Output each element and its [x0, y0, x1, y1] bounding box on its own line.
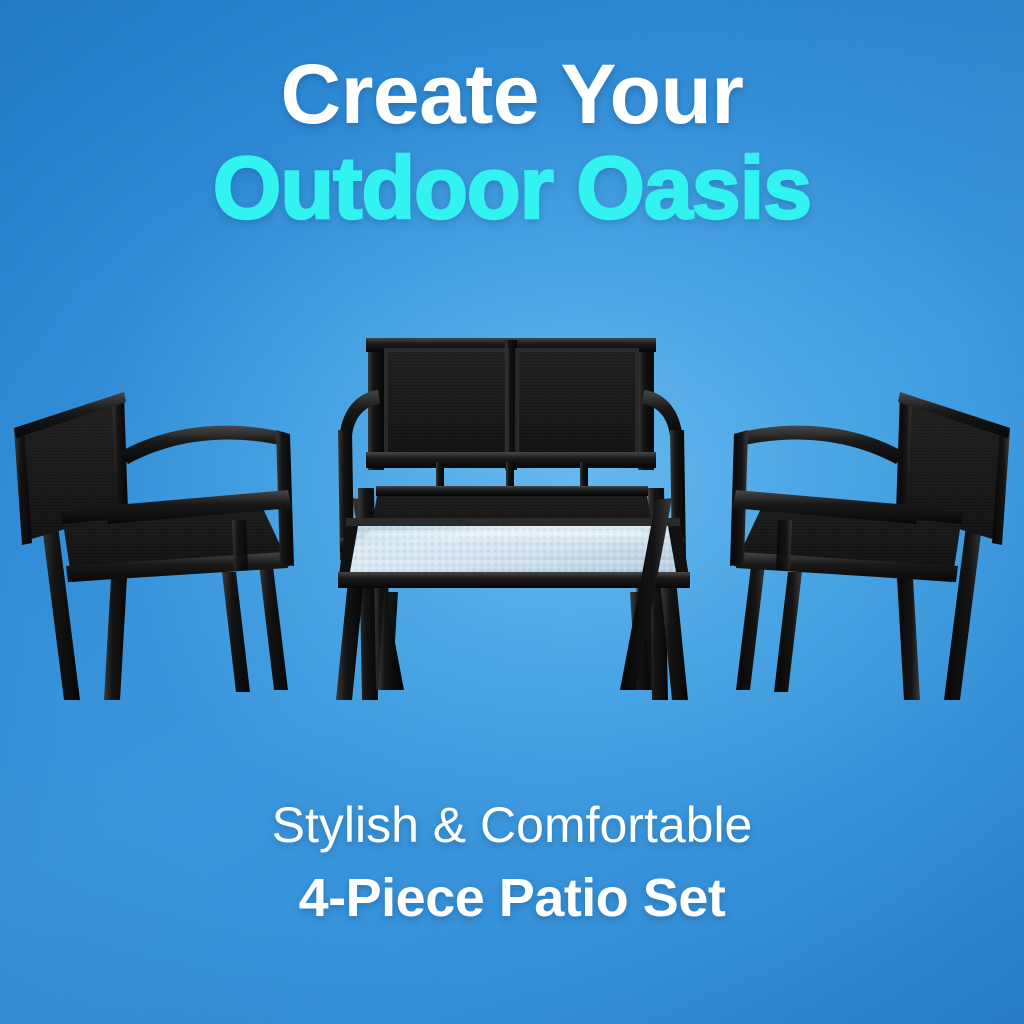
headline-line-1: Create Your	[0, 52, 1024, 136]
footer-line-2: 4-Piece Patio Set	[0, 869, 1024, 928]
headline-block: Create Your Outdoor Oasis	[0, 52, 1024, 234]
product-coffee-table	[336, 518, 690, 700]
product-loveseat	[338, 338, 686, 700]
product-chair-left	[14, 392, 404, 700]
headline-line-2: Outdoor Oasis	[0, 142, 1024, 234]
promo-poster: Create Your Outdoor Oasis Stylish & Comf…	[0, 0, 1024, 1024]
footer-line-1: Stylish & Comfortable	[0, 798, 1024, 853]
footer-block: Stylish & Comfortable 4-Piece Patio Set	[0, 798, 1024, 928]
product-chair-right	[620, 392, 1010, 700]
